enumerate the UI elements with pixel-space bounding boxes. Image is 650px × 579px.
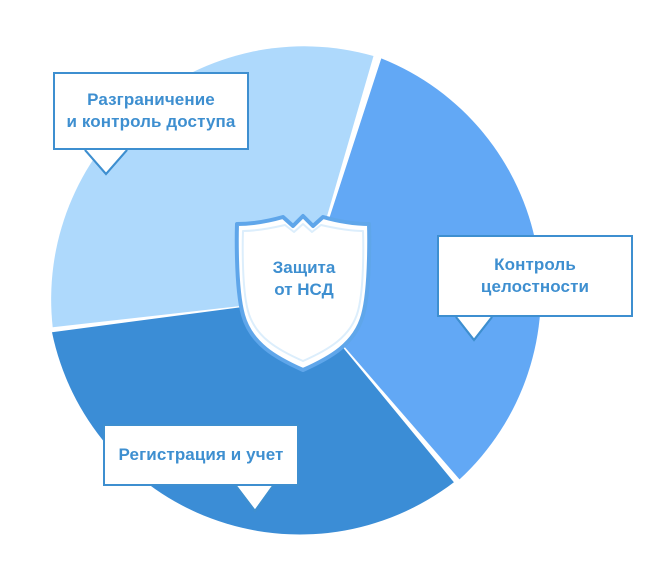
- callout-registration-accounting[interactable]: Регистрация и учет: [103, 424, 299, 486]
- callout-registration-accounting-label: Регистрация и учет: [119, 444, 284, 466]
- callout-integrity-control[interactable]: Контроль целостности: [437, 235, 633, 317]
- diagram-canvas: Разграничение и контроль доступа Контрол…: [0, 0, 650, 579]
- callout-access-control[interactable]: Разграничение и контроль доступа: [53, 72, 249, 150]
- callout-integrity-control-label: Контроль целостности: [481, 254, 589, 298]
- callout-access-control-label: Разграничение и контроль доступа: [67, 89, 236, 133]
